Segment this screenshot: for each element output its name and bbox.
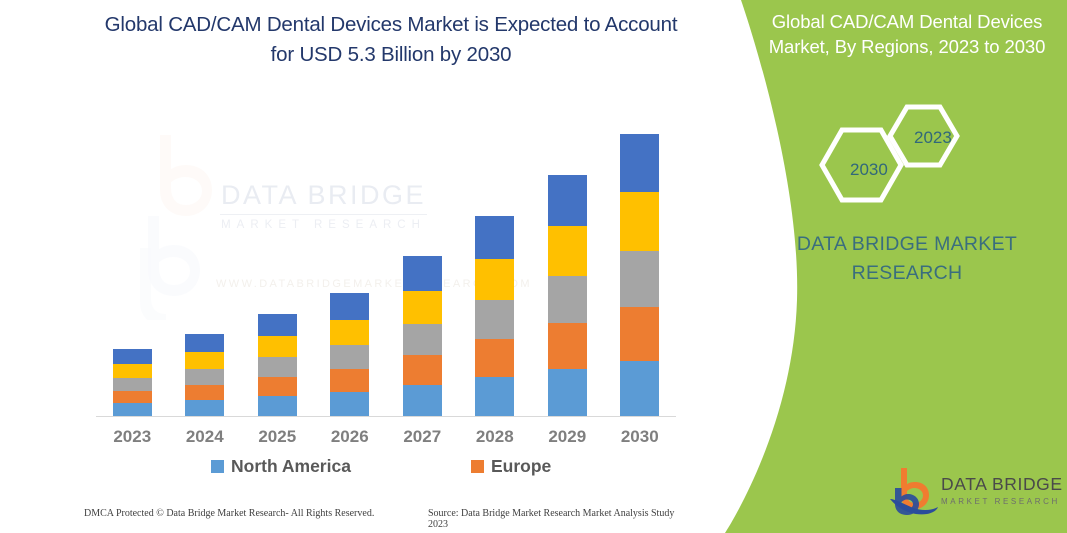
segment-series-4-2029: [548, 226, 587, 276]
footer: DMCA Protected © Data Bridge Market Rese…: [84, 508, 684, 528]
segment-series-3-2025: [258, 357, 297, 377]
bar-2029: [548, 175, 587, 416]
segment-series-5-2029: [548, 175, 587, 226]
x-axis-label-2026: 2026: [314, 427, 386, 447]
data-bridge-b-mark-icon: [887, 466, 939, 516]
legend-label: North America: [231, 456, 351, 477]
segment-series-3-2028: [475, 300, 514, 339]
segment-series-4-2027: [403, 291, 442, 324]
hex-label-2023: 2023: [914, 128, 952, 148]
segment-series-3-2026: [330, 345, 369, 369]
logo-wordmark-main: DATA BRIDGE: [941, 474, 1063, 495]
bar-2025: [258, 314, 297, 416]
bar-2027: [403, 256, 442, 416]
segment-series-5-2024: [185, 334, 224, 352]
legend-label: Europe: [491, 456, 551, 477]
segment-europe-2027: [403, 355, 442, 385]
bar-2024: [185, 334, 224, 416]
hex-label-2030: 2030: [850, 160, 888, 180]
segment-series-4-2024: [185, 352, 224, 369]
segment-north-america-2025: [258, 396, 297, 416]
hexagon-outline-icons: [807, 92, 1007, 212]
bar-2028: [475, 216, 514, 416]
x-axis-label-2029: 2029: [531, 427, 603, 447]
segment-north-america-2029: [548, 369, 587, 416]
segment-series-4-2030: [620, 192, 659, 251]
logo-wordmark-sub: MARKET RESEARCH: [941, 497, 1063, 506]
segment-europe-2030: [620, 307, 659, 361]
segment-series-4-2028: [475, 259, 514, 300]
x-axis-labels: 20232024202520262027202820292030: [96, 427, 676, 451]
segment-europe-2025: [258, 377, 297, 396]
segment-europe-2026: [330, 369, 369, 392]
segment-series-3-2024: [185, 369, 224, 385]
segment-series-5-2027: [403, 256, 442, 291]
x-axis-label-2023: 2023: [96, 427, 168, 447]
footer-source: Source: Data Bridge Market Research Mark…: [428, 508, 684, 530]
bar-2030: [620, 134, 659, 416]
segment-north-america-2027: [403, 385, 442, 416]
x-axis-label-2030: 2030: [604, 427, 676, 447]
x-axis-label-2028: 2028: [459, 427, 531, 447]
legend-item-north-america[interactable]: North America: [211, 456, 351, 477]
segment-series-3-2030: [620, 251, 659, 307]
infographic-slide: Global CAD/CAM Dental Devices Market, By…: [0, 0, 1067, 533]
segment-europe-2023: [113, 391, 152, 403]
chart-legend: North AmericaEurope: [96, 456, 676, 480]
x-axis-label-2025: 2025: [241, 427, 313, 447]
regions-panel-content: Global CAD/CAM Dental Devices Market, By…: [687, 0, 1067, 533]
x-axis-label-2024: 2024: [169, 427, 241, 447]
segment-series-3-2023: [113, 378, 152, 391]
legend-swatch-icon: [211, 460, 224, 473]
logo-wordmark: DATA BRIDGE MARKET RESEARCH: [941, 474, 1063, 506]
x-axis-line: [96, 416, 676, 417]
segment-series-4-2025: [258, 336, 297, 357]
x-axis-label-2027: 2027: [386, 427, 458, 447]
segment-north-america-2024: [185, 400, 224, 416]
segment-north-america-2028: [475, 377, 514, 416]
legend-swatch-icon: [471, 460, 484, 473]
segment-north-america-2023: [113, 403, 152, 416]
panel-title: Global CAD/CAM Dental Devices Market, By…: [757, 10, 1057, 60]
hexagon-badges: [807, 92, 1007, 212]
segment-series-4-2026: [330, 320, 369, 345]
stacked-bar-chart-plot: [96, 100, 676, 416]
footer-copyright: DMCA Protected © Data Bridge Market Rese…: [84, 508, 374, 519]
segment-europe-2028: [475, 339, 514, 377]
legend-item-europe[interactable]: Europe: [471, 456, 551, 477]
segment-series-5-2030: [620, 134, 659, 192]
bar-2023: [113, 349, 152, 416]
segment-europe-2024: [185, 385, 224, 400]
page-title: Global CAD/CAM Dental Devices Market is …: [96, 10, 686, 69]
segment-series-4-2023: [113, 364, 152, 378]
panel-brand-text: DATA BRIDGE MARKET RESEARCH: [767, 230, 1047, 289]
segment-series-5-2028: [475, 216, 514, 259]
segment-north-america-2026: [330, 392, 369, 416]
bar-2026: [330, 293, 369, 416]
segment-north-america-2030: [620, 361, 659, 416]
segment-series-5-2025: [258, 314, 297, 336]
segment-europe-2029: [548, 323, 587, 369]
segment-series-5-2026: [330, 293, 369, 320]
segment-series-3-2027: [403, 324, 442, 355]
brand-logo: DATA BRIDGE MARKET RESEARCH: [887, 466, 1067, 518]
segment-series-5-2023: [113, 349, 152, 364]
segment-series-3-2029: [548, 276, 587, 323]
